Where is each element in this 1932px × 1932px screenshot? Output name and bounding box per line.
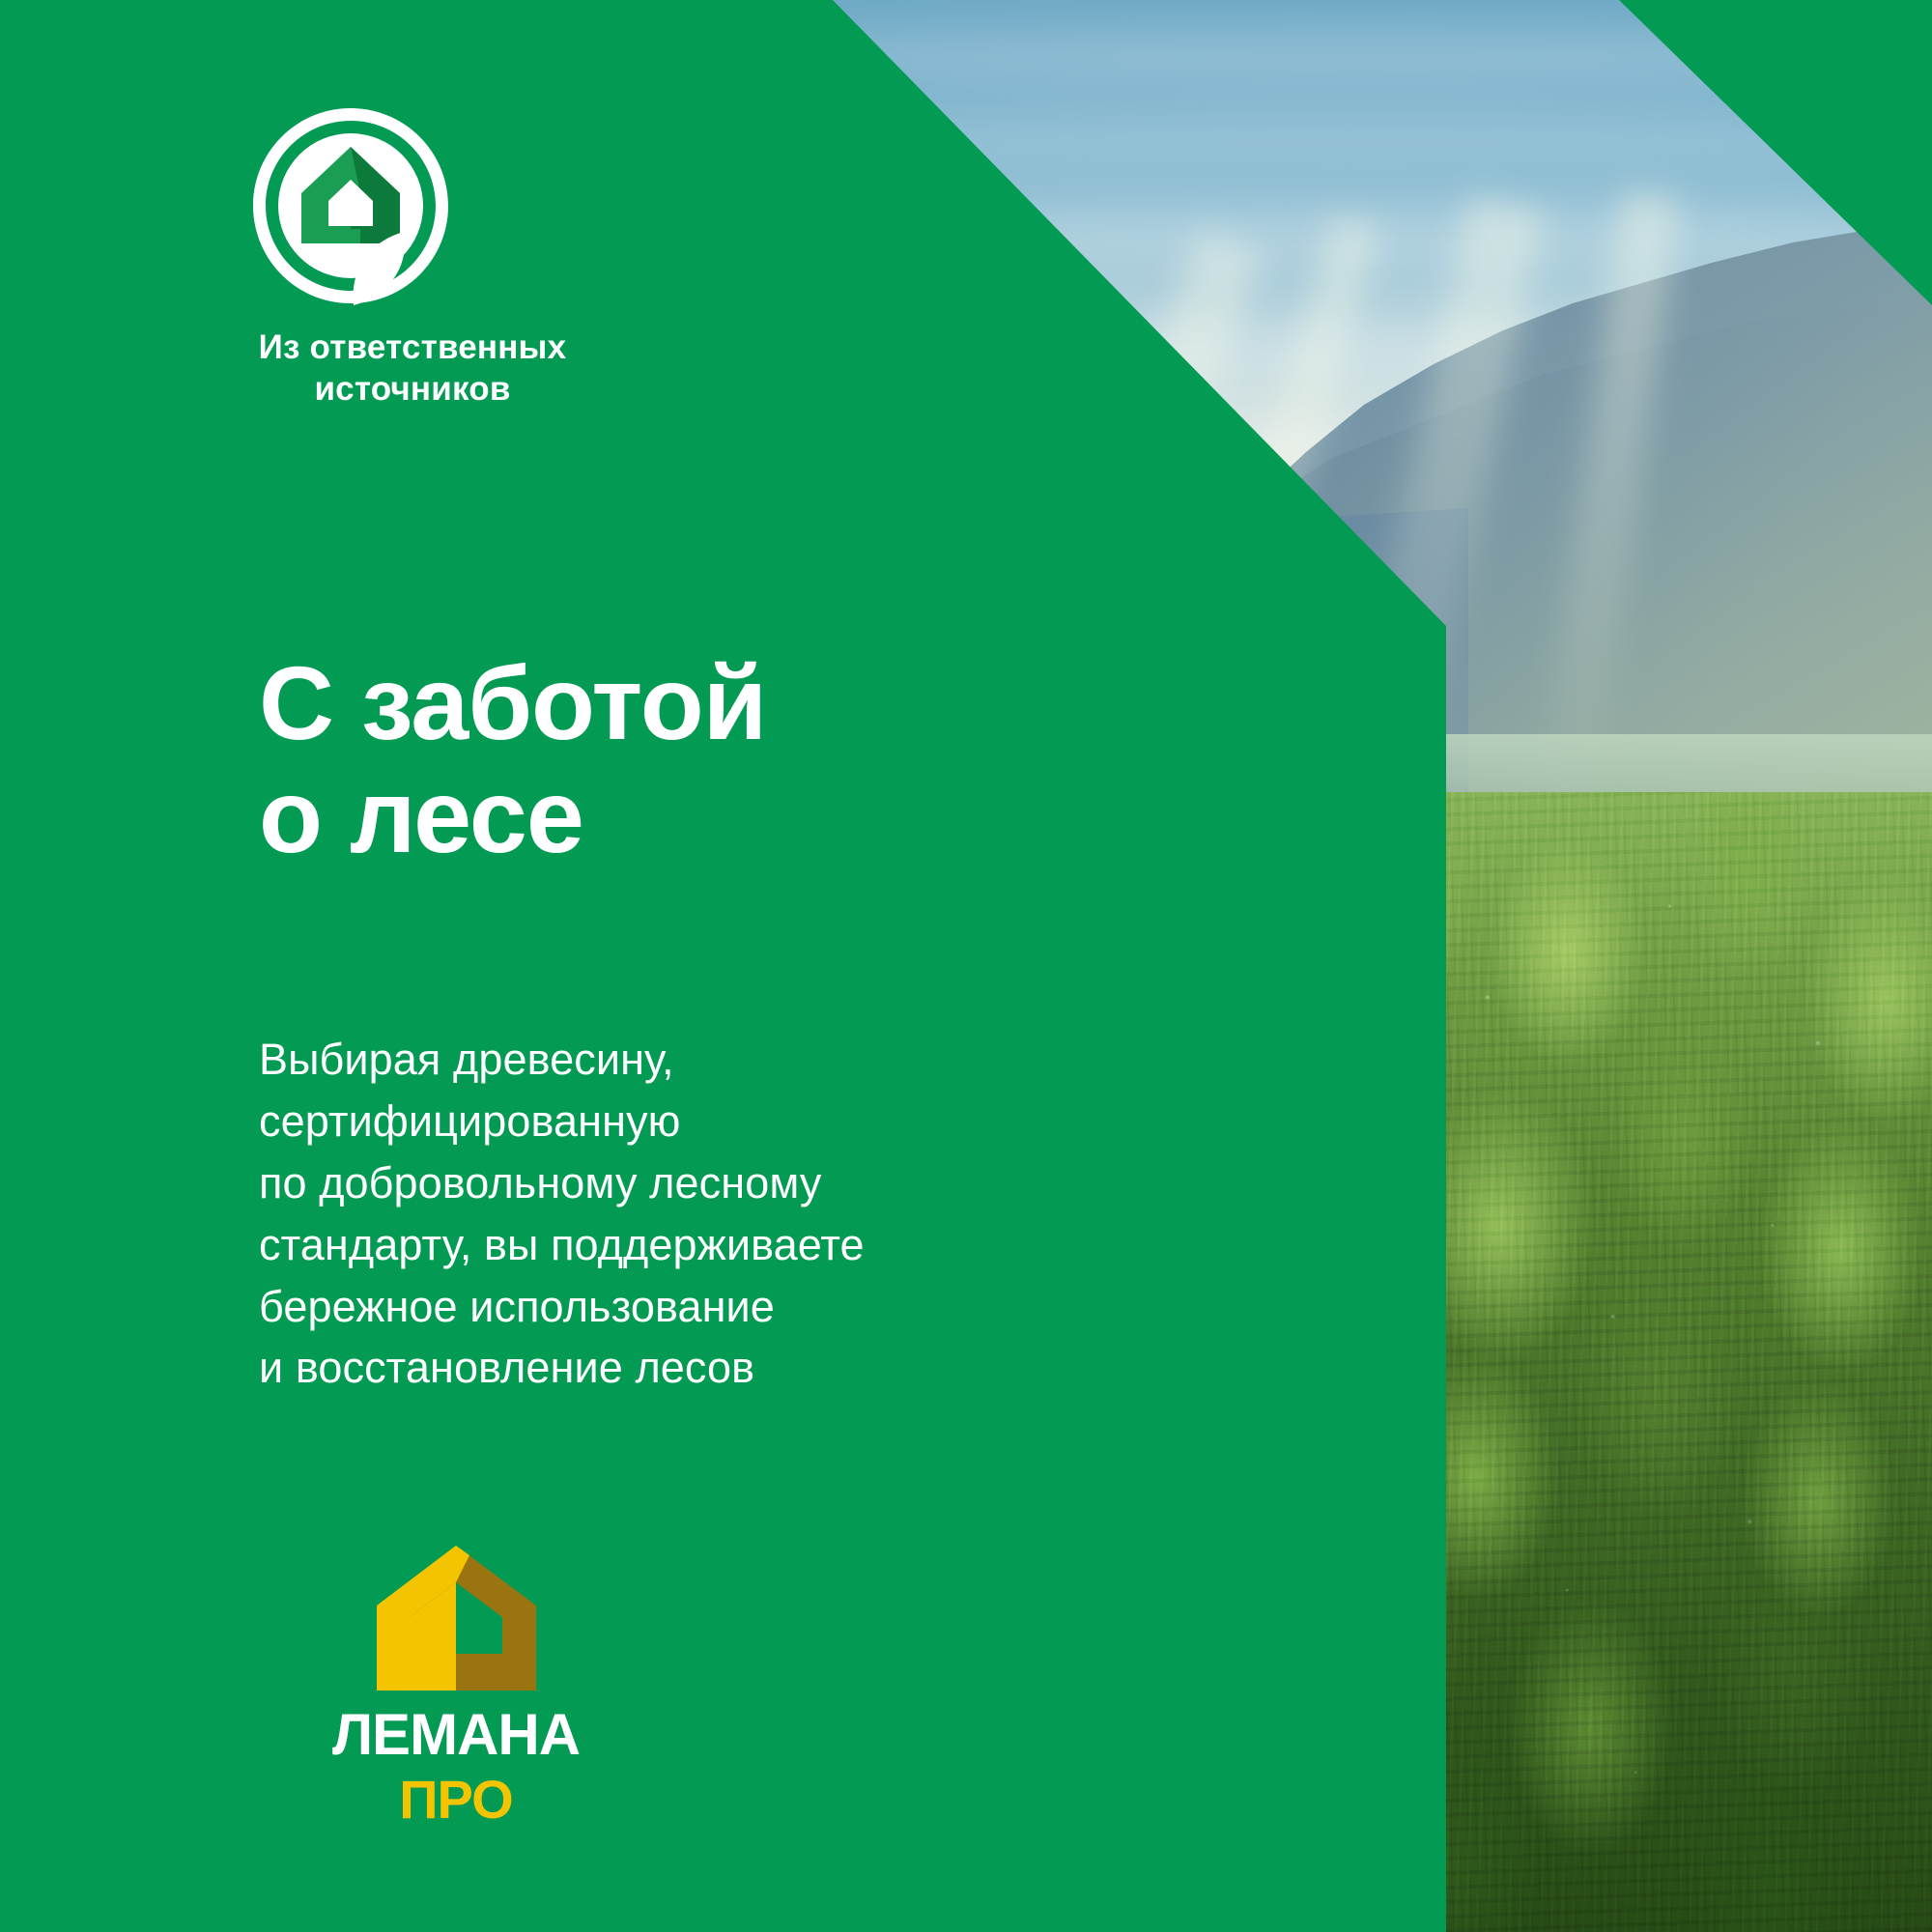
lemana-wordmark: ЛЕМАНА xyxy=(292,1706,620,1766)
certification-badge-caption: Из ответственных источников xyxy=(253,327,572,410)
body-paragraph: Выбирая древесину, сертифицированную по … xyxy=(259,1029,865,1399)
lemana-wordmark-text: ЛЕМАНА xyxy=(332,1706,580,1766)
house-leaf-circle-icon xyxy=(253,108,468,306)
poster-canvas: Из ответственных источников С заботой о … xyxy=(0,0,1932,1932)
certification-badge: Из ответственных источников xyxy=(253,108,668,410)
pro-wordmark-text: ПРО xyxy=(399,1774,512,1828)
content-layer: Из ответственных источников С заботой о … xyxy=(0,0,1932,1932)
page-title: С заботой о лесе xyxy=(259,647,766,872)
lemana-house-icon xyxy=(377,1546,536,1690)
pro-wordmark: ПРО xyxy=(359,1774,553,1828)
brand-logo: ЛЕМАНА ПРО xyxy=(263,1546,649,1828)
